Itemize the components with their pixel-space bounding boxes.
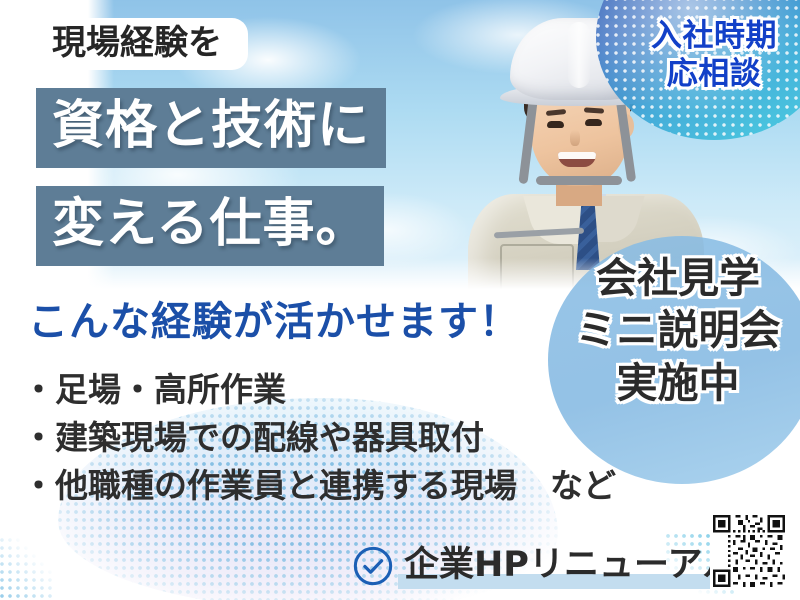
subheadline: こんな経験が活かせます！: [28, 302, 520, 342]
badge-start-date: 入社時期 応相談: [628, 18, 800, 94]
website-renewal-label: 企業HPリニューアル: [404, 548, 737, 585]
helmet-chinstrap-bottom: [536, 176, 622, 185]
list-item: ・他職種の作業員と連携する現場 など: [22, 462, 702, 510]
qr-code[interactable]: [710, 512, 788, 590]
label-highlight-underline: [398, 574, 743, 589]
recruitment-banner: 入社時期 応相談 現場経験を 資格と技術に 変える仕事。 会社見学 ミニ説明会 …: [0, 0, 800, 600]
halftone-corner-dots-left: [0, 538, 54, 600]
badge-company-tour-line3: 実施中: [552, 357, 800, 409]
badge-company-tour: 会社見学 ミニ説明会 実施中: [552, 252, 800, 409]
worker-teeth: [558, 152, 596, 159]
badge-start-date-line2: 応相談: [628, 56, 800, 94]
website-renewal-bar: 企業HPリニューアル: [352, 540, 737, 592]
worker-nose: [570, 130, 580, 146]
badge-company-tour-line2: ミニ説明会: [552, 304, 800, 356]
headline-line-2: 変える仕事。: [36, 186, 384, 266]
worker-mouth: [558, 152, 596, 167]
badge-start-date-line1: 入社時期: [628, 18, 800, 56]
worker-eye-right: [585, 119, 602, 126]
worker-eye-left: [547, 121, 564, 128]
helmet-ridge: [568, 22, 590, 88]
headline-kicker: 現場経験を: [26, 18, 248, 70]
headline-line-1: 資格と技術に: [36, 88, 386, 168]
badge-company-tour-line1: 会社見学: [552, 252, 800, 304]
circle-check-icon: [352, 545, 394, 587]
list-item: ・建築現場での配線や器具取付: [22, 414, 702, 462]
